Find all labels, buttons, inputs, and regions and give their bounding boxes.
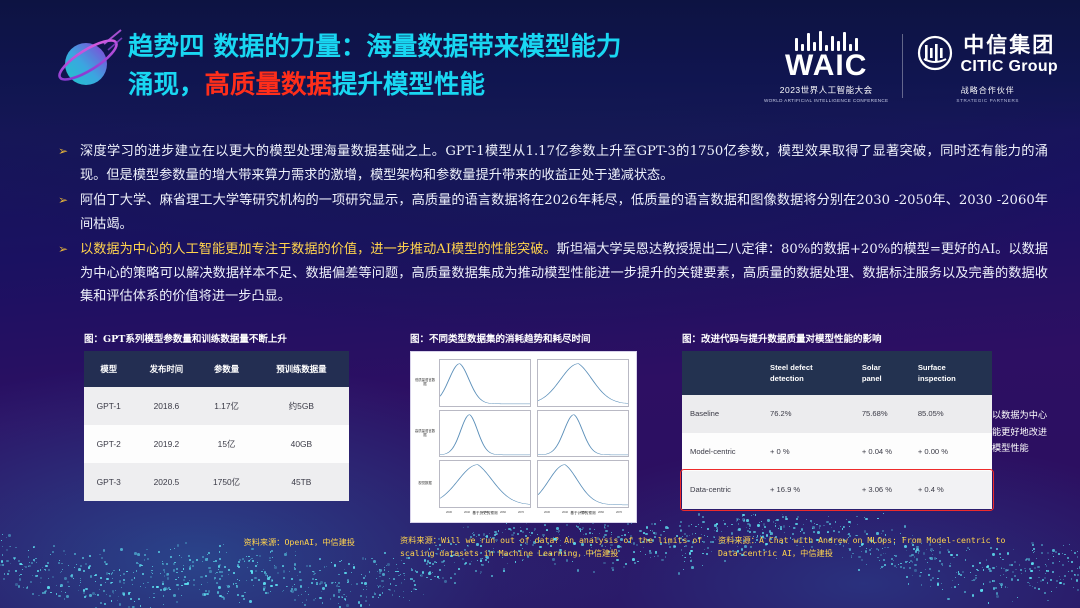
figure-3-caption: 图：改进代码与提升数据质量对模型性能的影响: [682, 331, 992, 345]
data-centric-table: Steel defect detection Solar panel Surfa…: [682, 351, 992, 509]
cell: GPT-1: [84, 387, 134, 425]
cell: 2019.2: [134, 425, 200, 463]
bullet-item-2: ➢ 阿伯丁大学、麻省理工大学等研究机构的一项研究显示，高质量的语言数据将在202…: [58, 189, 1048, 236]
title-highlight: 高质量数据: [205, 70, 333, 100]
citic-logo: 中信集团 CITIC Group 战略合作伙伴 STRATEGIC PARTNE…: [917, 29, 1058, 103]
data-exhaustion-chart: 低质量语言数据20302040205020602030204020502060高…: [410, 351, 637, 523]
chart-panel: 20222024202620282030: [537, 410, 629, 458]
cell: 1750亿: [199, 463, 253, 501]
figure-3: 图：改进代码与提升数据质量对模型性能的影响 Steel defect detec…: [682, 331, 992, 509]
waic-wordmark: WAIC: [764, 51, 889, 81]
row-label: Model-centric: [682, 433, 762, 471]
title-line-2-suffix: 提升模型性能: [332, 70, 485, 100]
cell: + 3.06 %: [854, 471, 910, 509]
figure-2-caption: 图：不同类型数据集的消耗趋势和耗尽时间: [410, 331, 650, 345]
title-line-1: 趋势四 数据的力量：海量数据带来模型能力: [128, 28, 738, 66]
t3-col-3: Surface inspection: [910, 351, 992, 395]
figure-1-source: 资料来源：OpenAI，中信建投: [140, 536, 355, 549]
title-line-2: 涌现，高质量数据提升模型性能: [128, 66, 738, 104]
t1-col-0: 模型: [84, 351, 134, 387]
citic-name-en: CITIC Group: [960, 58, 1058, 76]
chart-row-label: 视觉数据: [414, 458, 436, 509]
figure-1: 图：GPT系列模型参数量和训练数据量不断上升 模型 发布时间 参数量 预训练数据…: [84, 331, 349, 501]
table-row: Baseline76.2%75.68%85.05%: [682, 395, 992, 433]
cell: GPT-3: [84, 463, 134, 501]
bullet-text-1: 深度学习的进步建立在以更大的模型处理海量数据基础之上。GPT-1模型从1.17亿…: [80, 140, 1048, 187]
t1-col-1: 发布时间: [134, 351, 200, 387]
t3-col-0: [682, 351, 762, 395]
citic-partner-cn: 战略合作伙伴: [917, 85, 1058, 96]
t1-col-3: 预训练数据量: [254, 351, 349, 387]
figure-3-source: 资料来源：A Chat with Andrew on MLOps: From M…: [718, 534, 1018, 559]
cell: + 0.04 %: [854, 433, 910, 471]
cell: 2020.5: [134, 463, 200, 501]
cell: + 0.4 %: [910, 471, 992, 509]
chart-x-ticks: 20302040205020602070: [440, 511, 530, 514]
chart-panel: 20302040205020602070: [439, 460, 531, 508]
table-row: GPT-32020.51750亿45TB: [84, 463, 349, 501]
table-header-row: 模型 发布时间 参数量 预训练数据量: [84, 351, 349, 387]
cell: + 0 %: [762, 433, 854, 471]
chart-x-ticks: 20302040205020602070: [538, 511, 628, 514]
citic-lockup: 中信集团 CITIC Group: [917, 29, 1058, 76]
cell: GPT-2: [84, 425, 134, 463]
page-title: 趋势四 数据的力量：海量数据带来模型能力 涌现，高质量数据提升模型性能: [128, 28, 738, 104]
waic-subtitle-cn: 2023世界人工智能大会: [764, 84, 889, 96]
citic-name-cn: 中信集团: [960, 29, 1058, 59]
bullet-arrow-icon: ➢: [58, 189, 80, 236]
row-label: Baseline: [682, 395, 762, 433]
right-side-note: 以数据为中心能更好地改进模型性能: [992, 408, 1056, 458]
table-row-highlighted: Data-centric+ 16.9 %+ 3.06 %+ 0.4 %: [682, 471, 992, 509]
figure-2: 图：不同类型数据集的消耗趋势和耗尽时间 低质量语言数据2030204020502…: [410, 331, 650, 523]
title-line-2-prefix: 涌现，: [128, 70, 205, 100]
cell: 约5GB: [254, 387, 349, 425]
waic-ticks-icon: [764, 29, 889, 51]
slide-background: 趋势四 数据的力量：海量数据带来模型能力 涌现，高质量数据提升模型性能 WAIC…: [0, 0, 1080, 608]
t3-col-1: Steel defect detection: [762, 351, 854, 395]
cell: 1.17亿: [199, 387, 253, 425]
chart-panel: 2030204020502060: [439, 359, 531, 407]
bullet-text-3-emphasis: 以数据为中心的人工智能更加专注于数据的价值，进一步推动AI模型的性能突破。: [80, 242, 557, 257]
cell: 75.68%: [854, 395, 910, 433]
chart-row-label: 低质量语言数据: [414, 357, 436, 408]
bullet-text-3: 以数据为中心的人工智能更加专注于数据的价值，进一步推动AI模型的性能突破。斯坦福…: [80, 238, 1048, 309]
t3-col-2: Solar panel: [854, 351, 910, 395]
planet-icon: [58, 26, 124, 96]
table-row: GPT-22019.215亿40GB: [84, 425, 349, 463]
bullet-arrow-icon: ➢: [58, 140, 80, 187]
figure-1-caption: 图：GPT系列模型参数量和训练数据量不断上升: [84, 331, 349, 345]
chart-panel: 20222024202620282030: [439, 410, 531, 458]
cell: + 16.9 %: [762, 471, 854, 509]
cell: 76.2%: [762, 395, 854, 433]
figure-2-source: 资料来源：Will we run out of data? An analysi…: [400, 534, 720, 559]
cell: 15亿: [199, 425, 253, 463]
bullet-list: ➢ 深度学习的进步建立在以更大的模型处理海量数据基础之上。GPT-1模型从1.1…: [58, 140, 1048, 311]
citic-mark-icon: [917, 35, 953, 71]
particle-wave: [0, 513, 1080, 608]
waic-subtitle-en: WORLD ARTIFICIAL INTELLIGENCE CONFERENCE: [764, 98, 889, 103]
logo-divider: [902, 34, 903, 98]
cell: + 0.00 %: [910, 433, 992, 471]
bullet-item-3: ➢ 以数据为中心的人工智能更加专注于数据的价值，进一步推动AI模型的性能突破。斯…: [58, 238, 1048, 309]
waic-logo: WAIC 2023世界人工智能大会 WORLD ARTIFICIAL INTEL…: [764, 29, 889, 103]
chart-panel: 2030204020502060: [537, 359, 629, 407]
bullet-item-1: ➢ 深度学习的进步建立在以更大的模型处理海量数据基础之上。GPT-1模型从1.1…: [58, 140, 1048, 187]
table-header-row: Steel defect detection Solar panel Surfa…: [682, 351, 992, 395]
row-label: Data-centric: [682, 471, 762, 509]
table-row: Model-centric+ 0 %+ 0.04 %+ 0.00 %: [682, 433, 992, 471]
bullet-arrow-icon: ➢: [58, 238, 80, 309]
citic-partner-en: STRATEGIC PARTNERS: [917, 98, 1058, 103]
cell: 45TB: [254, 463, 349, 501]
t1-col-2: 参数量: [199, 351, 253, 387]
chart-panel: 20302040205020602070: [537, 460, 629, 508]
table-row: GPT-12018.61.17亿约5GB: [84, 387, 349, 425]
chart-row-label: 高质量语言数据: [414, 408, 436, 459]
cell: 2018.6: [134, 387, 200, 425]
logo-group: WAIC 2023世界人工智能大会 WORLD ARTIFICIAL INTEL…: [764, 20, 1058, 112]
cell: 85.05%: [910, 395, 992, 433]
bullet-text-2: 阿伯丁大学、麻省理工大学等研究机构的一项研究显示，高质量的语言数据将在2026年…: [80, 189, 1048, 236]
cell: 40GB: [254, 425, 349, 463]
gpt-models-table: 模型 发布时间 参数量 预训练数据量 GPT-12018.61.17亿约5GB …: [84, 351, 349, 501]
